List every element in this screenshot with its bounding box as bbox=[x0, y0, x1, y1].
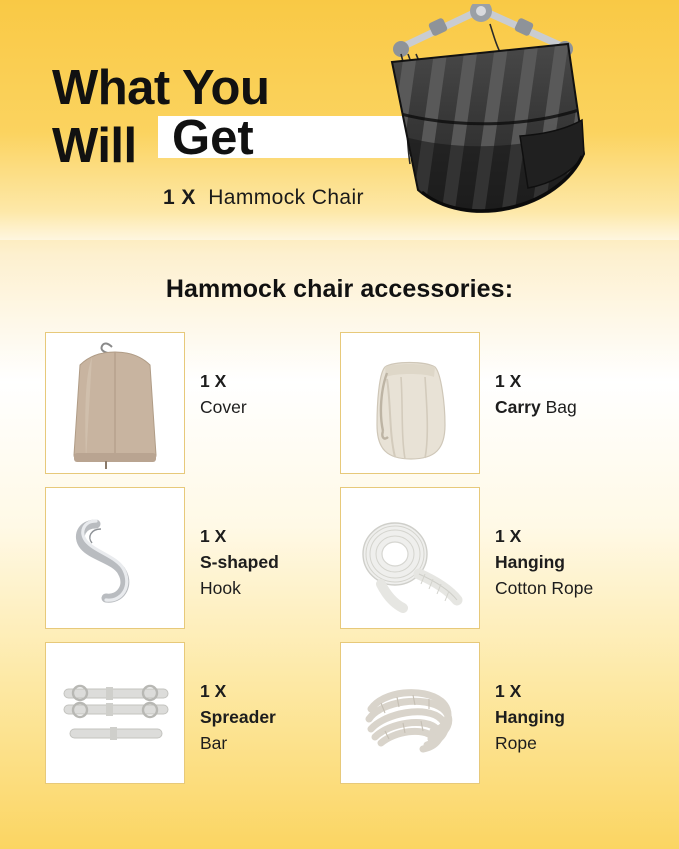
accessory-row: 1 X S-shapedHook bbox=[0, 487, 679, 642]
hanging-rope-name: HangingRope bbox=[495, 704, 660, 756]
hammock-chair-illustration bbox=[370, 4, 670, 249]
cover-thumbnail bbox=[45, 332, 185, 474]
title-highlight-word: Get bbox=[172, 118, 254, 158]
accessory-row: 1 X SpreaderBar bbox=[0, 642, 679, 797]
accessory-item-carry-bag: 1 X Carry Bag bbox=[340, 332, 650, 477]
s-hook-thumbnail bbox=[45, 487, 185, 629]
hanging-rope-label: 1 X HangingRope bbox=[495, 678, 660, 756]
accessory-row: 1 X Cover bbox=[0, 332, 679, 487]
accessories-grid: 1 X Cover bbox=[0, 332, 679, 797]
cotton-rope-label: 1 X HangingCotton Rope bbox=[495, 523, 660, 601]
accessory-item-spreader-bar: 1 X SpreaderBar bbox=[45, 642, 355, 787]
accessory-item-s-hook: 1 X S-shapedHook bbox=[45, 487, 355, 632]
cotton-rope-name: HangingCotton Rope bbox=[495, 549, 660, 601]
hanging-rope-qty: 1 X bbox=[495, 678, 660, 704]
title-line-1: What You bbox=[52, 61, 269, 115]
spreader-bar-thumbnail bbox=[45, 642, 185, 784]
accessory-item-cover: 1 X Cover bbox=[45, 332, 355, 477]
hero-subtitle: 1 X Hammock Chair bbox=[163, 186, 364, 210]
cotton-rope-qty: 1 X bbox=[495, 523, 660, 549]
cotton-rope-thumbnail bbox=[340, 487, 480, 629]
carry-bag-name: Carry Bag bbox=[495, 394, 660, 420]
section-heading: Hammock chair accessories: bbox=[0, 275, 679, 304]
accessory-item-hanging-rope: 1 X HangingRope bbox=[340, 642, 650, 787]
hero-subtitle-item: Hammock Chair bbox=[208, 186, 364, 209]
infographic-page: What You Will Get 1 X Hammock Chair bbox=[0, 0, 679, 849]
hanging-rope-thumbnail bbox=[340, 642, 480, 784]
carry-bag-thumbnail bbox=[340, 332, 480, 474]
carry-bag-qty: 1 X bbox=[495, 368, 660, 394]
carry-bag-label: 1 X Carry Bag bbox=[495, 368, 660, 420]
hero-subtitle-qty: 1 X bbox=[163, 186, 196, 209]
accessory-item-cotton-rope: 1 X HangingCotton Rope bbox=[340, 487, 650, 632]
